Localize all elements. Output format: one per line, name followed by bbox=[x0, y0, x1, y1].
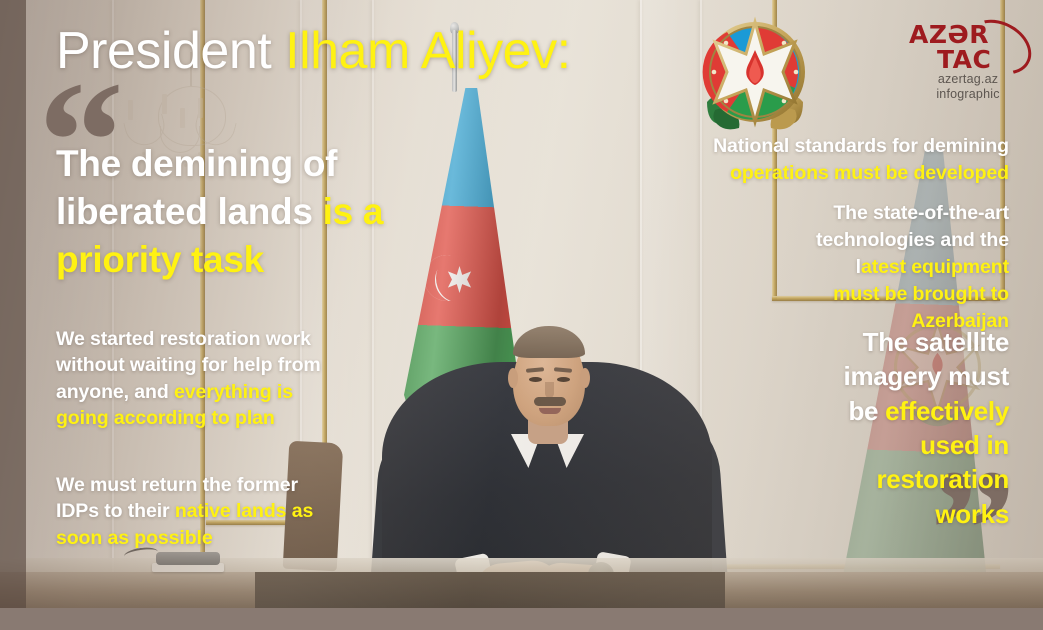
right-quote-3: The satellite imagery must be effectivel… bbox=[809, 325, 1009, 531]
left-quote-2: We must return the former IDPs to their … bbox=[56, 472, 324, 551]
infographic-poster: “ ” bbox=[0, 0, 1043, 630]
right-quote-2: The state-of-the-art technologies and th… bbox=[809, 200, 1009, 335]
left-quote-1: We started restoration work without wait… bbox=[56, 326, 324, 431]
logo-site-label: azertag.az bbox=[907, 72, 1029, 86]
left-shade-strip bbox=[0, 0, 26, 630]
right-quote-1: National standards for demining operatio… bbox=[669, 133, 1009, 188]
right-quote-3-yellow: effectively used in restoration works bbox=[876, 396, 1009, 529]
page-title: President Ilham Aliyev: bbox=[56, 24, 571, 79]
logo-kind-label: infographic bbox=[907, 87, 1029, 101]
azerbaijan-state-emblem-icon bbox=[697, 14, 813, 144]
headline-white-part: The demining of liberated lands bbox=[56, 143, 337, 232]
azertac-logo[interactable]: AZƏR TAC azertag.az infographic bbox=[907, 18, 1029, 98]
bottom-bar bbox=[0, 608, 1043, 630]
right-quote-1-white: National standards for demining bbox=[713, 135, 1009, 157]
logo-word-tac: TAC bbox=[937, 45, 991, 74]
headline-quote: The demining of liberated lands is a pri… bbox=[56, 140, 416, 284]
right-quote-1-yellow: operations must be developed bbox=[730, 162, 1009, 184]
title-yellow-part: Ilham Aliyev: bbox=[285, 22, 570, 80]
title-white-part: President bbox=[56, 22, 285, 80]
